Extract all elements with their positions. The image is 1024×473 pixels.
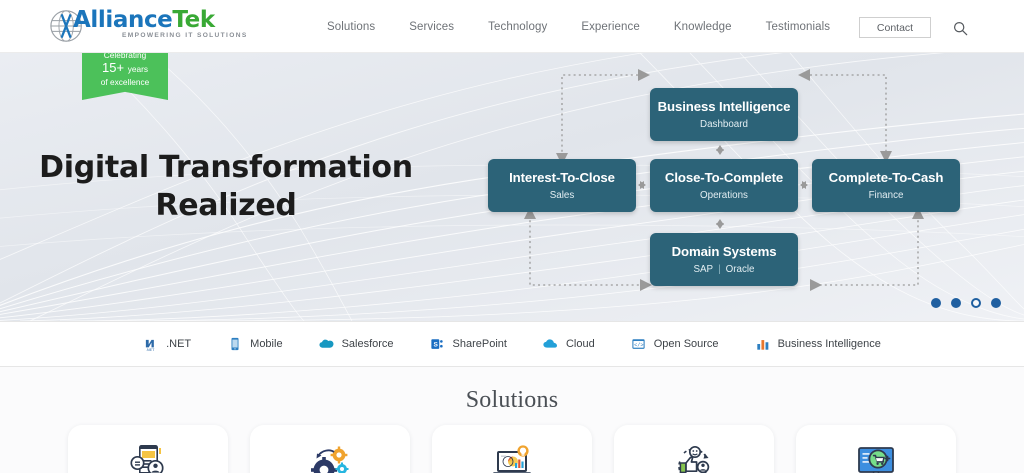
tech-item-label: Mobile [250, 338, 282, 350]
diagram-box-subtitle: Dashboard [700, 119, 748, 130]
badge-line-3: of excellence [82, 76, 168, 88]
site-header: AllianceTek EMPOWERING IT SOLUTIONS Solu… [0, 0, 1024, 53]
diagram-box-subtitle: Finance [869, 190, 904, 201]
carousel-dot-3[interactable] [971, 298, 981, 308]
solution-card-analytics[interactable] [432, 425, 592, 473]
sharepoint-icon: S [430, 336, 446, 352]
dotnet-icon: .NET [143, 336, 159, 352]
tech-item-label: Business Intelligence [778, 338, 881, 350]
logo-name-1: Alliance [73, 7, 172, 33]
nav-item-technology[interactable]: Technology [471, 21, 564, 33]
solutions-section: Solutions [0, 367, 1024, 473]
badge-line-2: 15+ years [82, 61, 168, 76]
contact-button[interactable]: Contact [859, 17, 931, 38]
diagram-box-complete-to-cash[interactable]: Complete-To-Cash Finance [812, 159, 960, 212]
site-logo[interactable]: AllianceTek EMPOWERING IT SOLUTIONS [47, 5, 207, 47]
svg-text:S: S [434, 342, 439, 349]
tech-item-open-source[interactable]: </> Open Source [631, 336, 719, 352]
solution-card-crm[interactable] [68, 425, 228, 473]
hero-process-diagram: Business Intelligence Dashboard Interest… [470, 53, 1024, 321]
carousel-dot-4[interactable] [991, 298, 1001, 308]
nav-item-services[interactable]: Services [392, 21, 471, 33]
hero-carousel-dots [931, 298, 1001, 308]
technology-strip: .NET .NET Mobile Salesforce [0, 321, 1024, 367]
badge-years-word: years [128, 64, 148, 74]
domain-systems-separator: | [718, 264, 721, 275]
carousel-dot-2[interactable] [951, 298, 961, 308]
ecommerce-monitor-cart-icon [852, 439, 900, 473]
tech-item-label: Salesforce [342, 338, 394, 350]
domain-systems-sap: SAP [693, 264, 713, 275]
hero-banner: Celebrating 15+ years of excellence Digi… [0, 53, 1024, 321]
nav-item-solutions[interactable]: Solutions [310, 21, 392, 33]
diagram-box-close-to-complete[interactable]: Close-To-Complete Operations [650, 159, 798, 212]
tech-item-label: Cloud [566, 338, 595, 350]
search-icon [953, 21, 968, 36]
diagram-box-title: Domain Systems [672, 244, 777, 260]
solutions-title: Solutions [0, 387, 1024, 414]
tech-item-business-intelligence[interactable]: Business Intelligence [755, 336, 881, 352]
solution-card-automation[interactable] [250, 425, 410, 473]
logo-tagline: EMPOWERING IT SOLUTIONS [122, 32, 248, 39]
page-root: AllianceTek EMPOWERING IT SOLUTIONS Solu… [0, 0, 1024, 473]
crm-mobile-user-icon [124, 439, 172, 473]
solution-card-customer-feedback[interactable] [614, 425, 774, 473]
open-source-code-icon: </> [631, 336, 647, 352]
svg-text:</>: </> [634, 342, 643, 348]
diagram-box-subtitle: Operations [700, 190, 748, 201]
main-navigation: Solutions Services Technology Experience… [310, 0, 929, 53]
bar-chart-icon [755, 336, 771, 352]
tech-item-sharepoint[interactable]: S SharePoint [430, 336, 507, 352]
salesforce-cloud-icon [319, 336, 335, 352]
nav-item-testimonials[interactable]: Testimonials [749, 21, 847, 33]
logo-name-2: Tek [172, 7, 214, 33]
carousel-dot-1[interactable] [931, 298, 941, 308]
laptop-analytics-icon [488, 439, 536, 473]
diagram-box-title: Complete-To-Cash [829, 170, 944, 186]
tech-item-salesforce[interactable]: Salesforce [319, 336, 394, 352]
tech-item-label: SharePoint [453, 338, 507, 350]
nav-item-experience[interactable]: Experience [564, 21, 657, 33]
mobile-icon [227, 336, 243, 352]
solution-card-ecommerce[interactable] [796, 425, 956, 473]
tech-item-mobile[interactable]: Mobile [227, 336, 282, 352]
gears-automation-icon [306, 439, 354, 473]
diagram-box-subtitle: Sales [550, 190, 575, 201]
tech-item-cloud[interactable]: Cloud [543, 336, 595, 352]
tech-item-label: .NET [166, 338, 191, 350]
diagram-box-business-intelligence[interactable]: Business Intelligence Dashboard [650, 88, 798, 141]
diagram-box-domain-systems[interactable]: Domain Systems SAP|Oracle [650, 233, 798, 286]
tech-item-dotnet[interactable]: .NET .NET [143, 336, 191, 352]
diagram-box-title: Interest-To-Close [509, 170, 615, 186]
diagram-box-interest-to-close[interactable]: Interest-To-Close Sales [488, 159, 636, 212]
nav-item-knowledge[interactable]: Knowledge [657, 21, 749, 33]
solutions-card-list [68, 425, 956, 473]
diagram-box-title: Close-To-Complete [665, 170, 783, 186]
logo-wordmark: AllianceTek [73, 7, 215, 33]
search-button[interactable] [950, 18, 970, 38]
customer-feedback-cycle-icon [670, 439, 718, 473]
tech-item-label: Open Source [654, 338, 719, 350]
cloud-icon [543, 336, 559, 352]
badge-years-number: 15+ [102, 60, 124, 75]
domain-systems-oracle: Oracle [726, 264, 755, 275]
diagram-box-title: Business Intelligence [658, 99, 791, 115]
svg-text:.NET: .NET [145, 348, 154, 352]
diagram-box-subtitle: SAP|Oracle [693, 264, 754, 275]
hero-headline: Digital Transformation Realized [20, 149, 432, 225]
